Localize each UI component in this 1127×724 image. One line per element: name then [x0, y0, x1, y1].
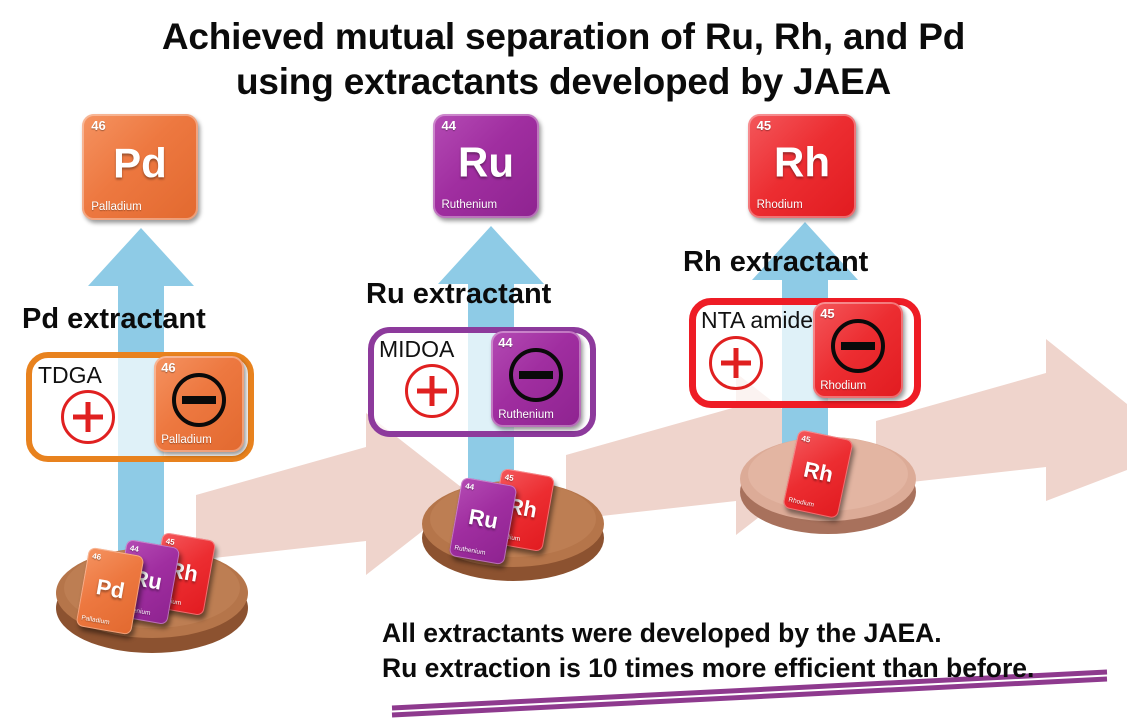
pd-product-tile: 46 Pd Palladium — [82, 114, 198, 220]
ru-extractant-label: Ru extractant — [366, 278, 551, 311]
tile-symbol: Ru — [433, 142, 539, 184]
tile-element-name: Rhodium — [757, 200, 803, 212]
tile-atomic-number: 46 — [91, 119, 105, 132]
rh-extractant-label: Rh extractant — [683, 246, 868, 279]
tile-atomic-number: 44 — [498, 336, 512, 349]
tile-atomic-number: 44 — [441, 119, 455, 132]
tile-atomic-number: 44 — [465, 482, 475, 491]
tile-atomic-number: 46 — [92, 552, 102, 561]
tile-atomic-number: 44 — [129, 544, 139, 553]
tile-element-name: Palladium — [91, 202, 142, 214]
ru-extractant-name: MIDOA — [379, 336, 454, 363]
tile-element-name: Palladium — [161, 435, 212, 447]
rh-minus-charge-icon — [831, 319, 885, 373]
tile-atomic-number: 45 — [801, 435, 811, 445]
tile-symbol: Rh — [748, 142, 856, 184]
rh-product-tile: 45 Rh Rhodium — [748, 114, 856, 218]
pd-extractant-name: TDGA — [38, 362, 102, 389]
tile-element-name: Rhodium — [820, 381, 866, 393]
pd-minus-charge-icon — [172, 373, 226, 427]
ru-plus-charge-icon — [405, 364, 459, 418]
tile-atomic-number: 45 — [757, 119, 771, 132]
pd-plus-charge-icon — [61, 390, 115, 444]
tile-atomic-number: 46 — [161, 361, 175, 374]
tile-symbol: Pd — [82, 143, 198, 185]
rh-extractant-name: NTA amide — [701, 307, 813, 334]
tile-element-name: Ruthenium — [441, 200, 497, 212]
pd-extractant-label: Pd extractant — [22, 303, 206, 336]
tile-atomic-number: 45 — [504, 473, 514, 482]
rh-plus-charge-icon — [709, 336, 763, 390]
ru-product-tile: 44 Ru Ruthenium — [433, 114, 539, 218]
slide-canvas: 45 Rh Rhodium 44 Ru Ruthenium 46 Pd Pall… — [0, 0, 1127, 724]
footer-caption: All extractants were developed by the JA… — [382, 616, 1034, 686]
page-title: Achieved mutual separation of Ru, Rh, an… — [0, 14, 1127, 104]
tile-element-name: Ruthenium — [498, 410, 554, 422]
ru-minus-charge-icon — [509, 348, 563, 402]
tile-atomic-number: 45 — [820, 307, 834, 320]
